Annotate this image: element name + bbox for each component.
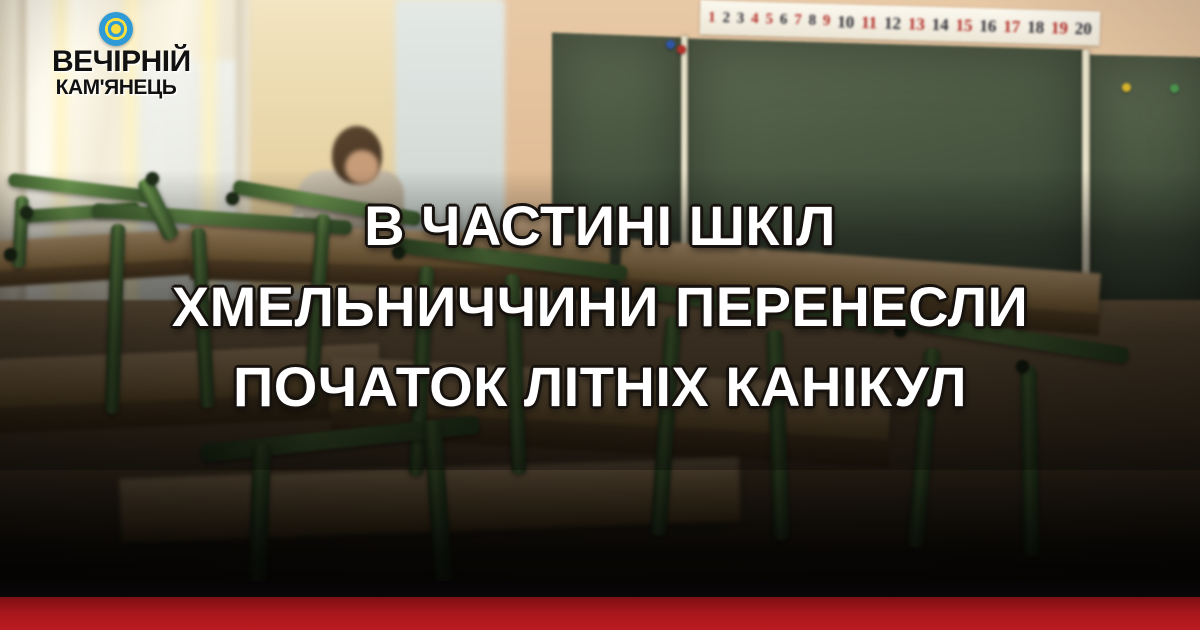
number-line-value: 4: [751, 11, 759, 26]
footer-accent-bar: [0, 597, 1200, 630]
headline-line-1: В ЧАСТИНІ ШКІЛ: [24, 186, 1176, 267]
number-line-value: 14: [931, 15, 948, 32]
headline-line-3: ПОЧАТОК ЛІТНІХ КАНІКУЛ: [24, 347, 1176, 428]
number-line-value: 2: [722, 11, 730, 26]
person-face: [345, 150, 379, 184]
magnet-green-icon: [1170, 84, 1179, 93]
headline: В ЧАСТИНІ ШКІЛ ХМЕЛЬНИЧЧИНИ ПЕРЕНЕСЛИ ПО…: [0, 186, 1200, 428]
magnet-yellow-icon: [1122, 83, 1131, 92]
footer-dark-bar: [0, 581, 1200, 597]
number-line-value: 13: [908, 15, 925, 32]
globe-emblem-icon: [99, 12, 133, 46]
number-line-value: 6: [780, 12, 788, 27]
number-line-value: 8: [808, 13, 816, 28]
number-line-value: 16: [979, 17, 996, 34]
magnet-red-icon: [677, 45, 686, 54]
number-line-value: 20: [1075, 19, 1092, 36]
number-line-value: 11: [861, 13, 878, 30]
brand-name-line-2: КАМ'ЯНЕЦЬ: [52, 78, 180, 98]
number-line-value: 5: [765, 12, 773, 27]
number-line-value: 9: [823, 13, 831, 28]
chair-foot-3: [146, 172, 159, 185]
brand-name-line-1: ВЕЧІРНІЙ: [52, 48, 180, 77]
number-line-value: 12: [884, 14, 901, 31]
number-line-value: 10: [837, 13, 854, 30]
headline-line-2: ХМЕЛЬНИЧЧИНИ ПЕРЕНЕСЛИ: [24, 267, 1176, 348]
number-line-value: 17: [1003, 17, 1020, 34]
number-line-value: 18: [1027, 18, 1044, 35]
number-line-value: 1: [708, 10, 716, 25]
share-card: 1234567891011121314151617181920: [0, 0, 1200, 630]
number-line-value: 15: [955, 16, 972, 33]
number-line-value: 19: [1051, 19, 1068, 36]
number-line-value: 7: [794, 13, 802, 28]
brand-logo[interactable]: ВЕЧІРНІЙ КАМ'ЯНЕЦЬ: [52, 12, 180, 97]
number-line-value: 3: [737, 11, 745, 26]
magnet-blue-icon: [666, 40, 675, 49]
